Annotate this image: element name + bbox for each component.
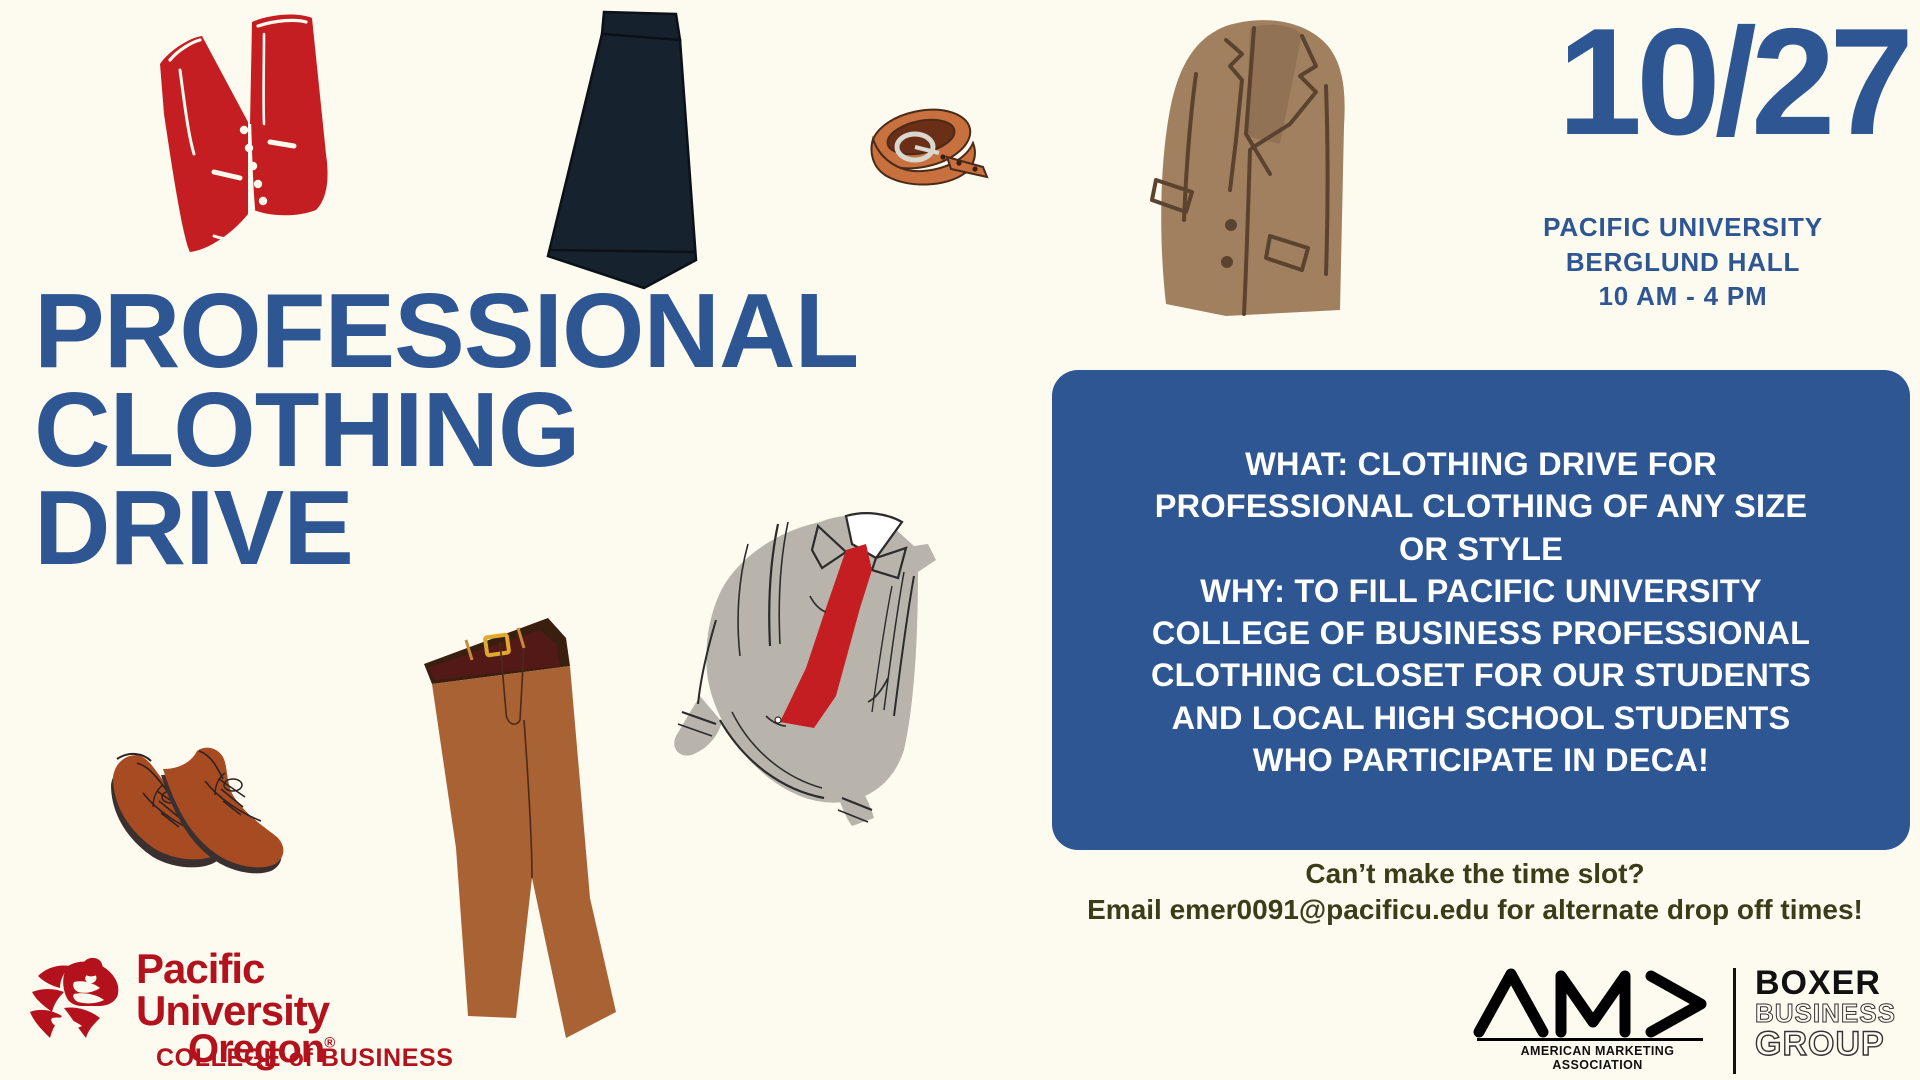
venue-line-2: BERGLUND HALL: [1468, 245, 1898, 280]
sponsor-logos: AMERICAN MARKETING ASSOCIATION BOXER BUS…: [1455, 968, 1920, 1080]
headline-line-3: DRIVE: [34, 479, 1034, 578]
ama-caption: AMERICAN MARKETING ASSOCIATION: [1475, 1044, 1720, 1072]
brown-dress-shoes-illustration: [95, 745, 295, 885]
college-of-business-label: COLLEGE of BUSINESS: [156, 1044, 454, 1073]
tan-overcoat-illustration: [1130, 14, 1390, 324]
venue-line-3: 10 AM - 4 PM: [1468, 279, 1898, 314]
venue-line-1: PACIFIC UNIVERSITY: [1468, 210, 1898, 245]
details-line-4: WHY: TO FILL PACIFIC UNIVERSITY: [1068, 570, 1894, 612]
pacific-line-1: Pacific University: [136, 948, 458, 1032]
details-line-5: COLLEGE OF BUSINESS PROFESSIONAL: [1068, 612, 1894, 654]
details-line-2: PROFESSIONAL CLOTHING OF ANY SIZE: [1068, 485, 1894, 527]
alternate-dropoff-note: Can’t make the time slot? Email emer0091…: [1030, 856, 1920, 929]
event-details-text: WHAT: CLOTHING DRIVE FOR PROFESSIONAL CL…: [1068, 443, 1894, 781]
red-blazer-illustration: [130, 4, 390, 274]
details-line-7: AND LOCAL HIGH SCHOOL STUDENTS: [1068, 697, 1894, 739]
note-line-2[interactable]: Email emer0091@pacificu.edu for alternat…: [1030, 892, 1920, 928]
headline-line-1: PROFESSIONAL: [34, 282, 1034, 381]
boxer-mascot-icon: [28, 954, 128, 1046]
event-details-panel: WHAT: CLOTHING DRIVE FOR PROFESSIONAL CL…: [1052, 370, 1910, 850]
event-date: 10/27: [1558, 6, 1908, 158]
brown-leather-belt-illustration: [855, 95, 995, 210]
details-line-8: WHO PARTICIPATE IN DECA!: [1068, 739, 1894, 781]
navy-pencil-skirt-illustration: [528, 4, 728, 294]
details-line-1: WHAT: CLOTHING DRIVE FOR: [1068, 443, 1894, 485]
flyer-canvas: PROFESSIONAL CLOTHING DRIVE 10/27 PACIFI…: [0, 0, 1920, 1080]
ama-logo-icon: [1465, 964, 1730, 1044]
note-line-1: Can’t make the time slot?: [1030, 856, 1920, 892]
boxer-line-3: GROUP: [1755, 1027, 1920, 1063]
event-venue: PACIFIC UNIVERSITY BERGLUND HALL 10 AM -…: [1468, 210, 1898, 314]
headline-line-2: CLOTHING: [34, 381, 1034, 480]
pacific-university-logo: Pacific University Oregon® COLLEGE of BU…: [28, 952, 458, 1070]
details-line-3: OR STYLE: [1068, 528, 1894, 570]
boxer-line-2: BUSINESS: [1755, 1000, 1920, 1027]
sponsor-divider: [1733, 968, 1736, 1074]
page-title: PROFESSIONAL CLOTHING DRIVE: [34, 282, 1034, 578]
boxer-business-group-logo: BOXER BUSINESS GROUP: [1755, 966, 1920, 1063]
boxer-line-1: BOXER: [1755, 966, 1920, 1000]
details-line-6: CLOTHING CLOSET FOR OUR STUDENTS: [1068, 654, 1894, 696]
